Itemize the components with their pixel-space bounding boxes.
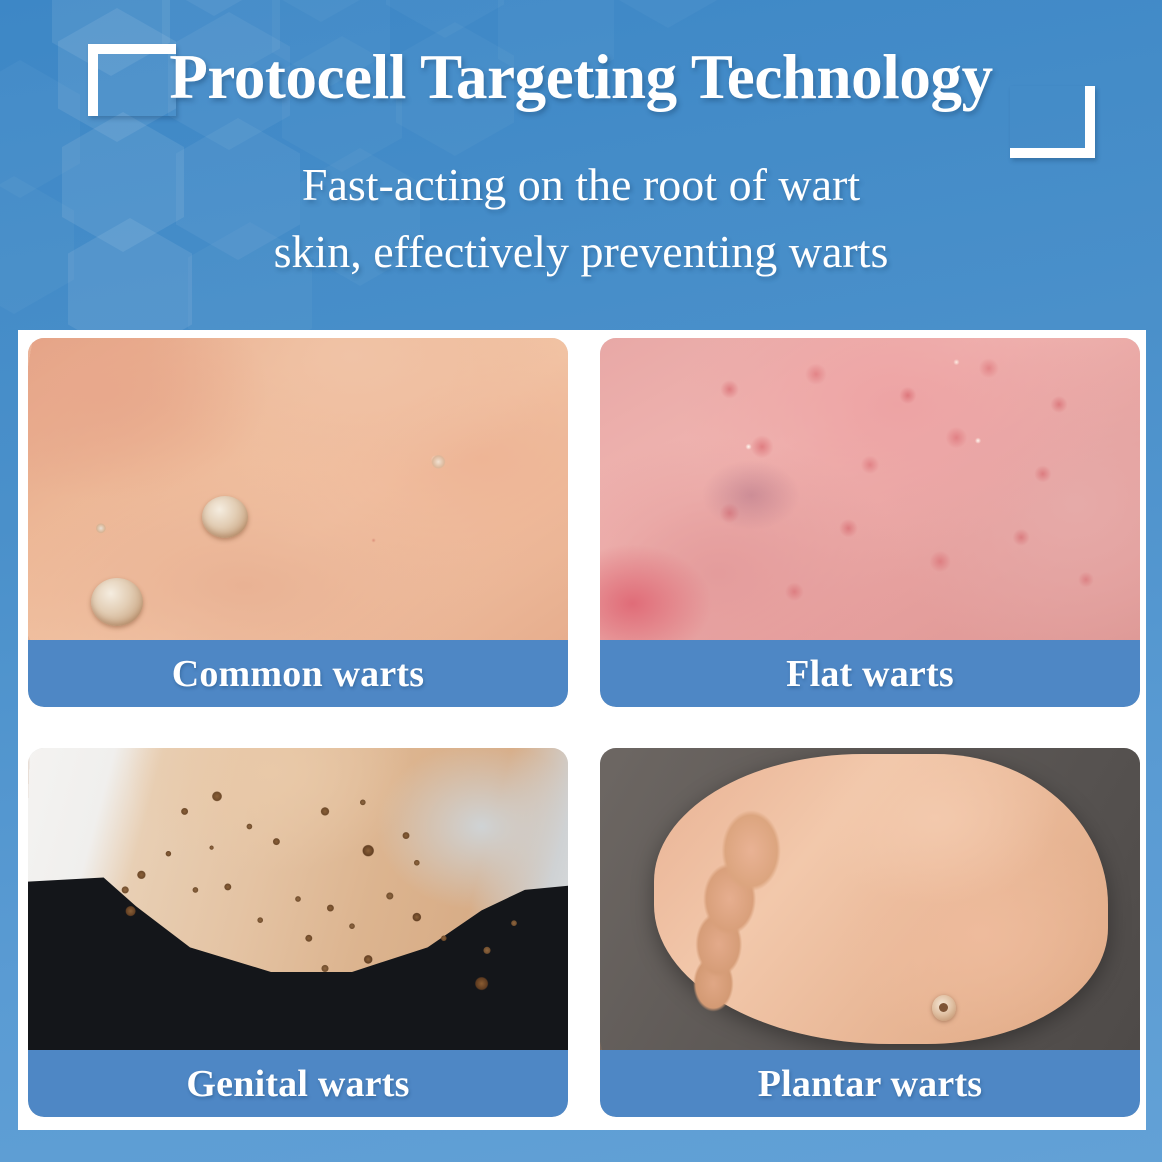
wart-photo-common — [28, 338, 568, 640]
promo-poster: Protocell Targeting Technology Fast-acti… — [0, 0, 1162, 1162]
wart-card-label: Common warts — [28, 640, 568, 707]
wart-lesion — [202, 496, 248, 538]
wart-lesion-cluster — [28, 748, 568, 1050]
face-skin-image — [600, 338, 1140, 640]
subtitle-line-2: skin, effectively preventing warts — [0, 219, 1162, 286]
wart-card-plantar[interactable]: Plantar warts — [600, 748, 1140, 1117]
wart-card-common[interactable]: Common warts — [28, 338, 568, 707]
wart-card-label: Plantar warts — [600, 1050, 1140, 1117]
wart-photo-plantar — [600, 748, 1140, 1050]
page-subtitle: Fast-acting on the root of wart skin, ef… — [0, 152, 1162, 285]
wart-type-grid: Common warts Flat warts Genital warts — [28, 338, 1140, 1122]
wart-card-flat[interactable]: Flat warts — [600, 338, 1140, 707]
subtitle-line-1: Fast-acting on the root of wart — [0, 152, 1162, 219]
title-container: Protocell Targeting Technology — [0, 44, 1162, 110]
wart-card-genital[interactable]: Genital warts — [28, 748, 568, 1117]
page-title: Protocell Targeting Technology — [165, 44, 996, 110]
wart-card-label: Genital warts — [28, 1050, 568, 1117]
wart-lesion — [932, 995, 956, 1021]
wart-lesion — [91, 578, 143, 626]
content-panel: Common warts Flat warts Genital warts — [18, 330, 1146, 1130]
wart-card-label: Flat warts — [600, 640, 1140, 707]
wart-photo-genital — [28, 748, 568, 1050]
foot-sole-image — [600, 748, 1140, 1050]
wart-photo-flat — [600, 338, 1140, 640]
poster-header: Protocell Targeting Technology Fast-acti… — [0, 0, 1162, 330]
